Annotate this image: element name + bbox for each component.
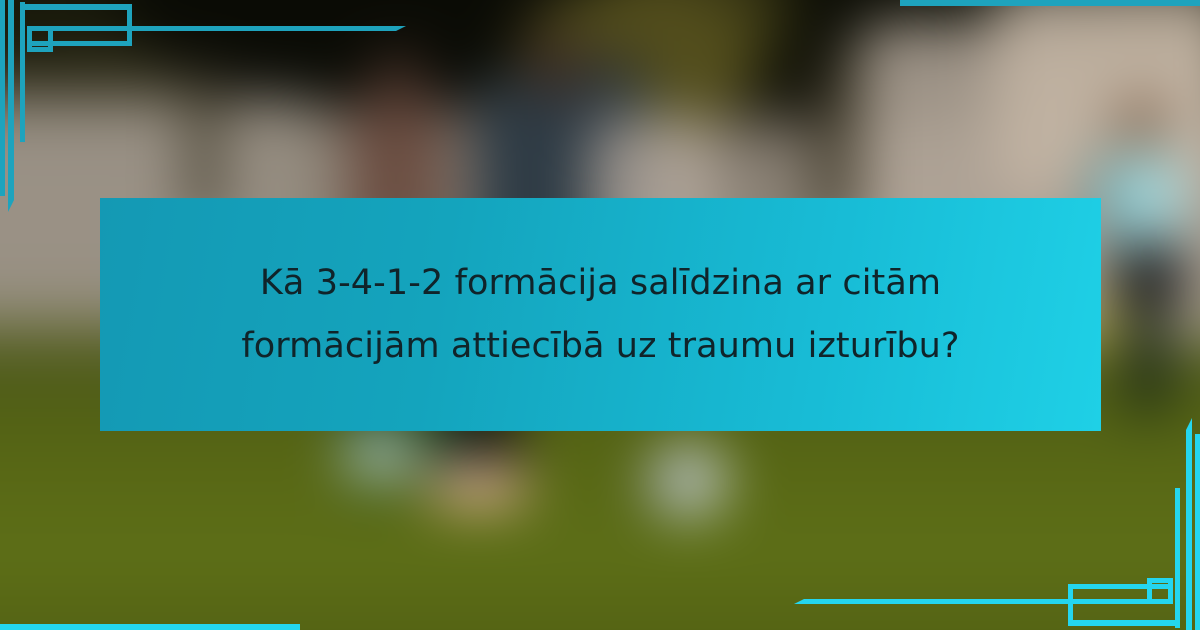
corner-vertical-bar-outer-icon [1186, 430, 1192, 630]
background-boot-a [346, 437, 416, 473]
social-share-card: Kā 3-4-1-2 formācija salīdzina ar citām … [0, 0, 1200, 630]
background-player-right-head [1117, 98, 1164, 153]
corner-horizontal-bar-top-icon [20, 4, 132, 10]
background-player-left-head [372, 53, 423, 112]
corner-vertical-bar-inner-icon [1175, 488, 1180, 628]
edge-rail-bottom [0, 624, 300, 630]
corner-vertical-connector-icon [127, 4, 132, 46]
corner-horizontal-bar-top-icon [1068, 620, 1180, 626]
corner-horizontal-bar-long-icon [36, 26, 396, 31]
corner-vertical-bar-inner-icon [20, 2, 25, 142]
background-boot-b [430, 463, 525, 505]
edge-rail-top [900, 0, 1200, 6]
headline-banner: Kā 3-4-1-2 formācija salīdzina ar citām … [100, 198, 1101, 431]
corner-decoration-bottom-right [1030, 560, 1200, 630]
corner-horizontal-bar-long-icon [804, 599, 1164, 604]
soccer-ball-panel [653, 454, 712, 507]
background-player-right-legs [1124, 304, 1171, 421]
corner-decoration-top-left [0, 0, 170, 70]
corner-vertical-connector-icon [1068, 584, 1073, 626]
headline-text: Kā 3-4-1-2 formācija salīdzina ar citām … [171, 252, 1031, 378]
background-player-center-head [524, 32, 583, 98]
corner-vertical-bar-outer-icon [8, 0, 14, 200]
